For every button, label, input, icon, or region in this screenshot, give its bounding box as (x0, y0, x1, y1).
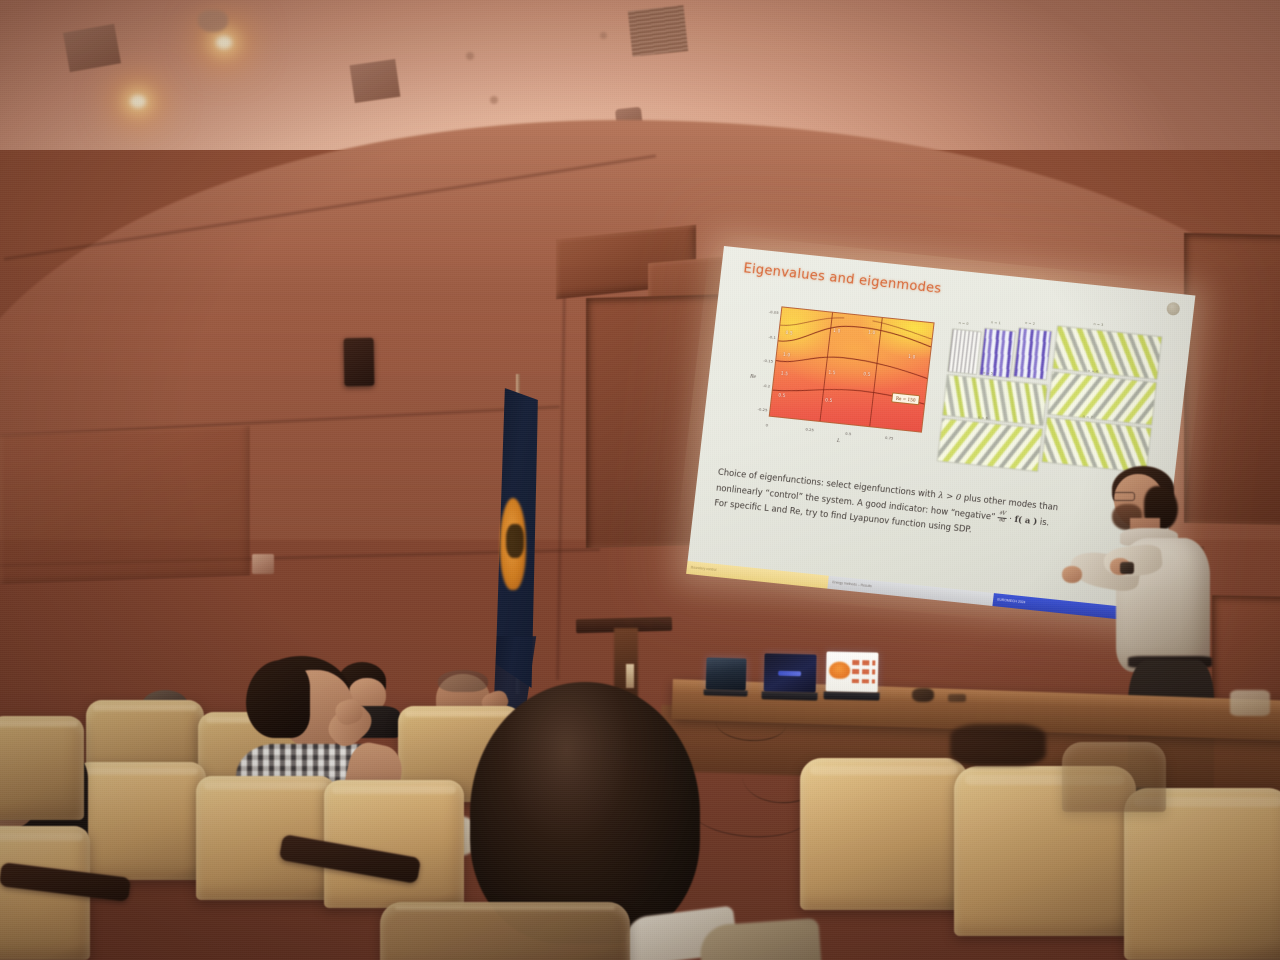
contour-label-5: 1.5 (828, 369, 836, 375)
eigenmode-panel-grid: n = 0 n = 1 n = 2 n = 3 n = 4 n = 5 n = … (937, 314, 1161, 483)
attendee-bald-scalp (438, 670, 488, 692)
slide-thumb-text (851, 660, 875, 684)
contour-label-2: 1.5 (781, 371, 789, 377)
desk-papers (1230, 690, 1270, 716)
ceiling-dot-2 (600, 32, 607, 39)
desk-mouse[interactable] (912, 688, 934, 702)
fraction-denominator: ∂a (997, 518, 1006, 525)
contour-label-9: 1.0 (908, 354, 916, 360)
contour-label-4: 1.0 (833, 328, 841, 334)
presenter-glasses (1113, 492, 1135, 501)
presenter-left-hand (1062, 566, 1082, 583)
body-line2-dot: · (1009, 513, 1013, 523)
tablet-stand (704, 689, 748, 696)
seat-front-1[interactable] (800, 758, 968, 910)
attendee-plaid-hair-side (246, 660, 310, 738)
flag-emblem-detail (506, 524, 524, 558)
eigenmode-label-6: n = 6 (978, 415, 988, 420)
slide-thumb-logo (829, 661, 850, 679)
y-tick-1: -0.1 (768, 334, 776, 340)
login-field (778, 671, 802, 676)
desk-cable-coil (948, 694, 966, 702)
y-tick-3: -0.2 (763, 383, 771, 389)
eigenmode-panel-2 (1013, 327, 1053, 380)
eigenmode-panel-6 (937, 418, 1044, 472)
ceiling-vent-2 (350, 59, 401, 103)
chart-xlabel: L (837, 439, 840, 444)
ceiling-dot-3 (490, 96, 498, 104)
partial-derivative-fraction: ∂V ∂a (997, 511, 1007, 524)
laptop-presentation-base (824, 691, 880, 700)
wall-speaker-1 (344, 338, 375, 387)
seat-foreground[interactable] (380, 902, 630, 960)
chart-contour-lines (770, 307, 934, 431)
seat-left-1[interactable] (0, 716, 84, 820)
chart-ylabel: Re (750, 374, 756, 380)
eigenmode-label-1: n = 1 (991, 320, 1001, 325)
eigenmode-label-2: n = 2 (1025, 321, 1035, 326)
chart-plot-area: 0.5 1.0 1.5 0.5 1.0 1.5 0.5 1.0 0.5 1.0 … (769, 306, 935, 432)
seat-front-3[interactable] (1124, 788, 1280, 960)
slide-logo-badge (1166, 302, 1180, 316)
body-line2-function: f( a ) (1014, 513, 1038, 525)
eigenvalue-contour-chart: -0.05 -0.1 -0.15 -0.2 -0.25 Re (743, 298, 940, 453)
seat-shadow-gap (950, 724, 1046, 766)
wall-plate (252, 554, 274, 574)
lecture-hall-photo: Eigenvalues and eigenmodes -0.05 -0.1 -0… (0, 0, 1280, 960)
contour-label-7: 1.0 (868, 330, 876, 336)
seat-mid-2[interactable] (196, 776, 336, 900)
y-tick-2: -0.15 (763, 358, 773, 364)
contour-label-8: 0.5 (863, 371, 871, 377)
contour-label-3: 0.5 (778, 393, 786, 399)
wall-panel-left (0, 426, 250, 585)
ceiling-vent-grill (628, 5, 689, 57)
contour-label-1: 1.0 (783, 351, 791, 357)
eigenmode-panel-7 (1041, 417, 1152, 474)
x-tick-1: 0.25 (805, 427, 814, 433)
podium-light (626, 664, 634, 688)
eigenmode-label-4: n = 4 (1088, 369, 1098, 374)
seat-front-4[interactable] (1062, 742, 1166, 812)
tablet-display[interactable] (703, 657, 748, 698)
contour-label-6: 0.5 (825, 397, 833, 403)
y-tick-4: -0.25 (757, 407, 767, 413)
presenter-clicker (1120, 562, 1134, 574)
body-line2-post: is. (1039, 516, 1049, 527)
laptop-dark-base (761, 691, 817, 700)
laptop-dark-screen (764, 653, 817, 692)
y-tick-0: -0.05 (769, 310, 779, 316)
x-tick-0: 0 (765, 422, 768, 427)
eigenmode-label-7: n = 7 (1083, 414, 1093, 419)
slide-title: Eigenvalues and eigenmodes (743, 261, 943, 297)
body-line1-math: λ > 0 (938, 490, 962, 502)
contour-label-0: 0.5 (785, 330, 793, 336)
ceiling-light-fixture-1 (198, 10, 228, 32)
eigenmode-label-0: n = 0 (958, 321, 968, 326)
eigenmode-label-3: n = 3 (1093, 322, 1103, 327)
eigenmode-panel-0 (947, 328, 982, 375)
laptop-presentation-screen (826, 651, 879, 692)
laptop-presentation[interactable] (823, 651, 880, 702)
ceiling-dot-1 (466, 52, 474, 60)
laptop-dark[interactable] (761, 653, 818, 702)
ceiling-light-2 (112, 80, 164, 122)
tablet-screen (706, 657, 747, 690)
x-tick-2: 0.5 (845, 431, 852, 437)
x-tick-3: 0.75 (885, 435, 894, 441)
